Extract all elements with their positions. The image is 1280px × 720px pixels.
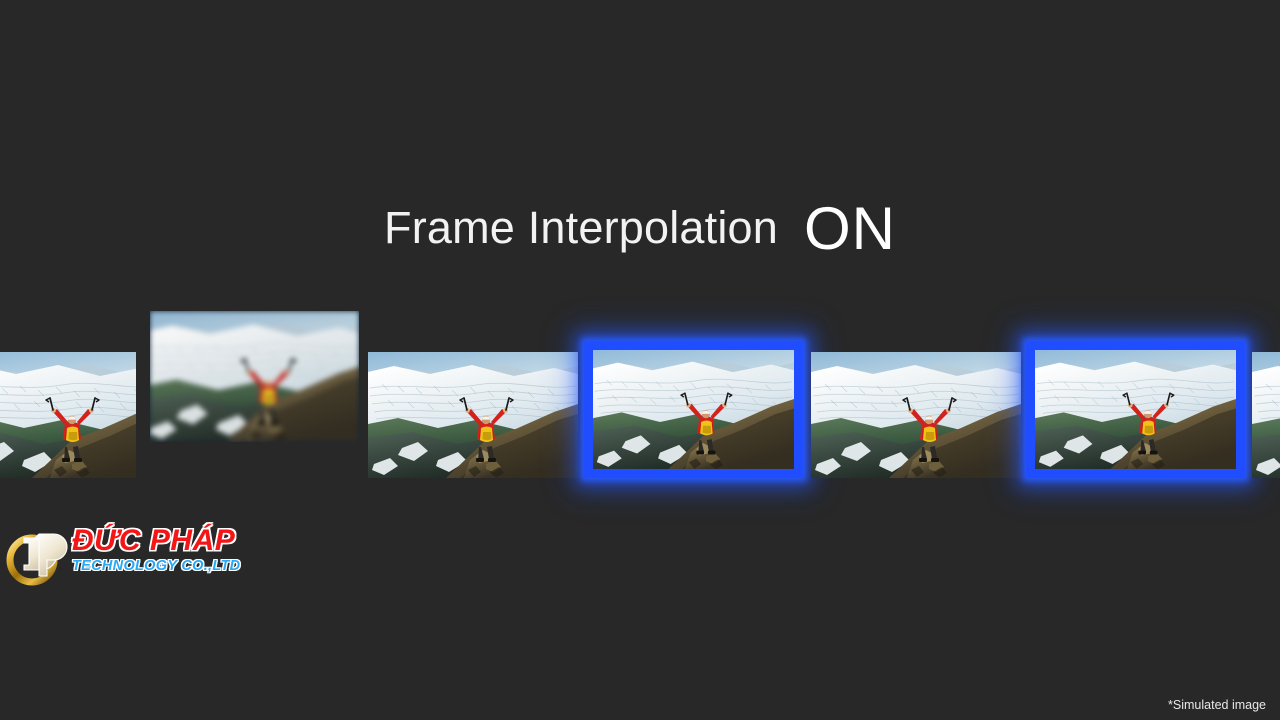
logo-monogram-icon xyxy=(6,520,68,590)
title-main-text: Frame Interpolation xyxy=(384,202,778,253)
interpolated-frame xyxy=(584,341,803,478)
logo-wordmark: ĐỨC PHÁP TECHNOLOGY CO.,LTD xyxy=(72,526,240,574)
page-title: Frame InterpolationON xyxy=(0,193,1280,253)
source-frame xyxy=(150,311,359,442)
mountaineer-scene xyxy=(1035,350,1236,469)
source-frame xyxy=(0,352,136,478)
source-frame xyxy=(368,352,578,478)
source-frame xyxy=(811,352,1021,478)
mountaineer-scene xyxy=(811,352,1021,478)
simulated-image-disclaimer: *Simulated image xyxy=(1168,698,1266,712)
title-state-value: ON xyxy=(804,195,896,262)
mountaineer-scene xyxy=(0,352,136,478)
mountaineer-scene xyxy=(593,350,794,469)
source-frame xyxy=(1252,352,1280,478)
logo-tagline: TECHNOLOGY CO.,LTD xyxy=(72,559,240,574)
brand-logo: ĐỨC PHÁP TECHNOLOGY CO.,LTD xyxy=(6,518,246,596)
frame-filmstrip xyxy=(0,296,1280,506)
mountaineer-scene xyxy=(368,352,578,478)
mountaineer-scene xyxy=(150,311,359,442)
slide-canvas: Frame InterpolationON xyxy=(0,0,1280,720)
logo-company-name: ĐỨC PHÁP xyxy=(72,526,240,556)
interpolated-frame xyxy=(1026,341,1245,478)
mountaineer-scene xyxy=(1252,352,1280,478)
